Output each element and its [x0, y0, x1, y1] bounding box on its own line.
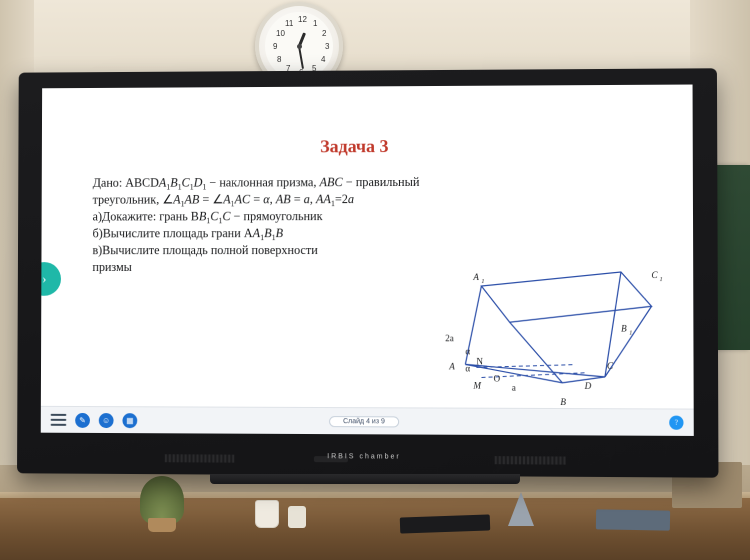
book-stack	[596, 509, 670, 530]
clock-number: 9	[273, 42, 277, 51]
figure-label: A	[448, 361, 455, 371]
clock-number: 1	[313, 19, 317, 28]
clock-number: 8	[277, 55, 281, 64]
slide-toolbar[interactable]: ✎ ☺ ▦ chevron-left-icon Слайд 4 из 9 › ?	[41, 406, 694, 436]
figure-label: α	[465, 363, 470, 373]
potted-plant	[140, 476, 184, 524]
arrow-right-icon[interactable]: ›	[41, 262, 61, 296]
clock-number: 10	[276, 29, 285, 38]
clock-number: 3	[325, 42, 329, 51]
figure-label: M	[472, 380, 481, 390]
figure-label: N	[476, 356, 483, 366]
figure-label: B	[621, 323, 627, 333]
clock-number: 12	[298, 15, 307, 24]
page-title: Задача 3	[320, 136, 388, 157]
page-indicator: Слайд 4 из 9	[343, 418, 385, 425]
interactive-display[interactable]: › Задача 3 Дано: ABCDA1B1C1D1 − наклонна…	[17, 68, 718, 477]
figure-label: C	[607, 361, 614, 371]
page-indicator-group[interactable]: chevron-left-icon Слайд 4 из 9 ›	[329, 416, 399, 427]
display-chin: IRBIS chamber	[41, 442, 694, 472]
figure-label: C	[651, 270, 658, 280]
figure-label: a	[512, 383, 516, 393]
hamburger-icon[interactable]	[51, 414, 67, 426]
question-icon[interactable]: ?	[669, 416, 683, 430]
brand-label: IRBIS chamber	[327, 453, 401, 460]
statement-line: призмы	[92, 259, 490, 276]
pen-icon[interactable]: ✎	[75, 412, 90, 427]
toolbar-left-group[interactable]: ✎ ☺ ▦	[41, 412, 138, 427]
figure-label: B	[560, 397, 566, 407]
svg-text:1: 1	[660, 277, 663, 283]
display-screen[interactable]: › Задача 3 Дано: ABCDA1B1C1D1 − наклонна…	[41, 85, 694, 436]
statement-line: в)Вычислите площадь полной поверхности	[92, 242, 490, 259]
display-mount	[210, 474, 520, 484]
statement-line: а)Докажите: грань BB1C1C − прямоугольник	[93, 208, 491, 226]
clock-number: 4	[321, 55, 325, 64]
prism-figure: A1 C1 B1 2a α N α A M O a C D B	[443, 264, 681, 416]
keyboard	[400, 514, 491, 533]
figure-label: 2a	[445, 333, 454, 343]
figure-label: A	[472, 272, 479, 282]
grid-icon[interactable]: ▦	[122, 413, 137, 428]
svg-text:1: 1	[629, 330, 632, 336]
plant-pot	[148, 518, 176, 532]
slide: › Задача 3 Дано: ABCDA1B1C1D1 − наклонна…	[41, 85, 694, 436]
clock-minute-hand	[298, 46, 304, 69]
statement-line: треугольник, ∠A1AB = ∠A1AC = α, AB = a, …	[93, 191, 491, 209]
clock-number: 2	[322, 29, 326, 38]
figure-label: α	[465, 346, 470, 356]
svg-text:1: 1	[481, 279, 484, 285]
statement-line: б)Вычислите площадь грани AA1B1B	[93, 225, 491, 242]
cup-small	[288, 506, 306, 528]
figure-label: O	[494, 373, 501, 383]
problem-statement: Дано: ABCDA1B1C1D1 − наклонная призма, A…	[92, 174, 490, 276]
person-icon[interactable]: ☺	[99, 413, 114, 428]
cone-model	[508, 492, 534, 526]
clock-number: 11	[285, 19, 293, 28]
cup	[255, 500, 279, 528]
figure-label: D	[584, 381, 592, 391]
clock-center-pin	[297, 44, 302, 49]
statement-line: Дано: ABCDA1B1C1D1 − наклонная призма, A…	[93, 174, 491, 192]
